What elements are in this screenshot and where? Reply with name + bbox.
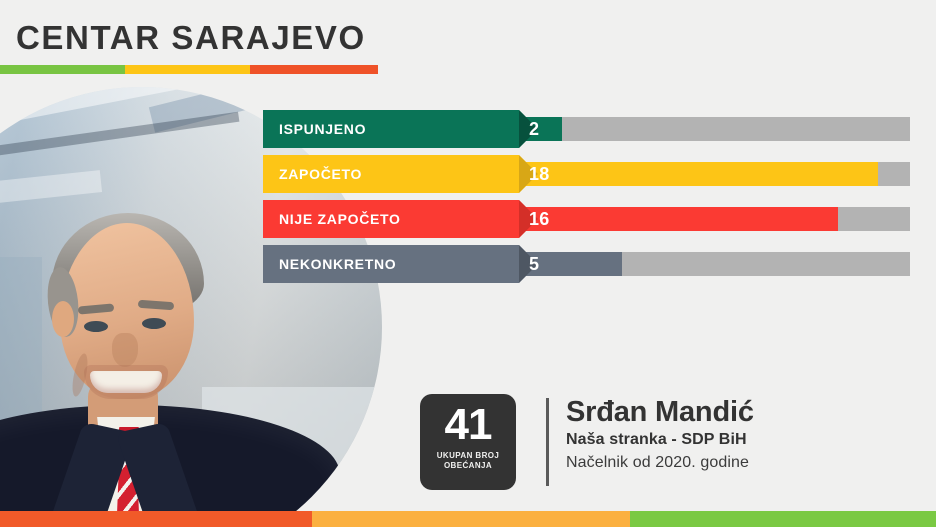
bar-value: 5 (529, 254, 539, 275)
person-party: Naša stranka - SDP BiH (566, 431, 754, 449)
ear (52, 301, 74, 337)
background-streak (0, 112, 239, 169)
background-streak (0, 257, 42, 437)
background-streak (0, 170, 102, 213)
accent-segment-yellow (125, 65, 250, 74)
bar-fill (521, 207, 838, 231)
infographic-root: CENTAR SARAJEVO (0, 0, 936, 527)
total-promises-caption-line1: UKUPAN BROJ (426, 451, 510, 461)
bottom-accent-stripe (0, 511, 936, 527)
bar-fill (521, 162, 878, 186)
bar-label: ZAPOČETO (279, 166, 362, 182)
bar-label-block: ZAPOČETO (263, 155, 538, 193)
bar-track (521, 117, 910, 141)
bar-value: 18 (529, 164, 550, 185)
total-promises-badge: 41 UKUPAN BROJ OBEĆANJA (420, 394, 516, 490)
eye-right (142, 318, 166, 329)
bar-label: NEKONKRETNO (279, 256, 396, 272)
bar-label-block: NIJE ZAPOČETO (263, 200, 538, 238)
bottom-segment-orange (0, 511, 312, 527)
bar-label-block: ISPUNJENO (263, 110, 538, 148)
nose (112, 333, 138, 367)
bar-label-block: NEKONKRETNO (263, 245, 538, 283)
accent-segment-orange (250, 65, 378, 74)
bar-label: NIJE ZAPOČETO (279, 211, 401, 227)
footer-divider (546, 398, 549, 486)
person-info: Srđan Mandić Naša stranka - SDP BiH Nače… (566, 396, 754, 472)
page-title: CENTAR SARAJEVO (16, 21, 366, 54)
person-name: Srđan Mandić (566, 396, 754, 428)
total-promises-caption: UKUPAN BROJ OBEĆANJA (426, 451, 510, 471)
eye-left (84, 321, 108, 332)
person-role: Načelnik od 2020. godine (566, 454, 754, 472)
bottom-segment-green (630, 511, 936, 527)
bar-value: 16 (529, 209, 550, 230)
total-promises-number: 41 (445, 402, 492, 448)
total-promises-caption-line2: OBEĆANJA (426, 461, 510, 471)
avatar (0, 87, 382, 527)
bar-label: ISPUNJENO (279, 121, 366, 137)
title-accent-rule (0, 65, 378, 74)
bar-value: 2 (529, 119, 539, 140)
accent-segment-green (0, 65, 125, 74)
photo-background (0, 87, 382, 527)
bottom-segment-amber (312, 511, 630, 527)
smile (90, 371, 162, 393)
